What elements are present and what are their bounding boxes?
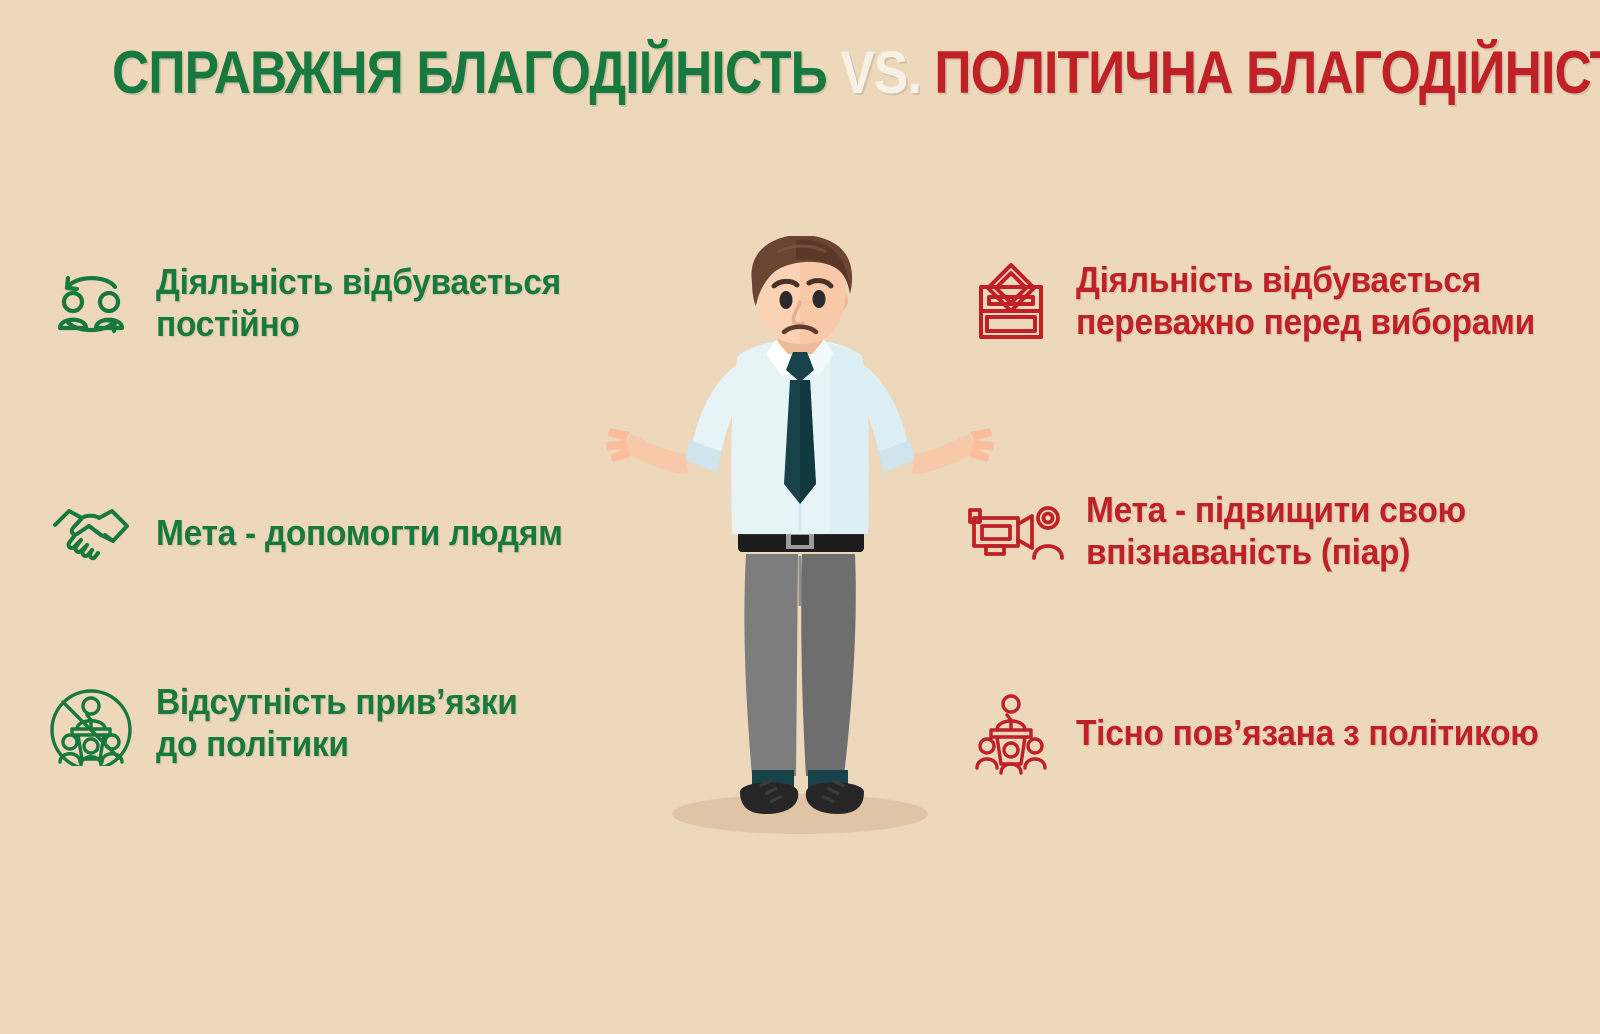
list-item-line2: переважно перед виборами [1076, 301, 1535, 343]
no-politics-icon [48, 680, 134, 766]
shrugging-businessman-illustration [600, 236, 1000, 846]
list-item-line2: постійно [156, 303, 561, 345]
title-vs: VS. [827, 39, 935, 106]
list-item-text: Мета - допомогти людям [156, 512, 563, 554]
list-item: Діяльність відбувається переважно перед … [968, 258, 1569, 344]
people-cycle-icon [48, 260, 134, 346]
list-item: Мета - підвищити свою впізнаваність (піа… [960, 488, 1494, 574]
list-item-line2: впізнаваність (піар) [1086, 531, 1466, 573]
list-item-line1: Діяльність відбувається [156, 261, 561, 303]
list-item-line1: Діяльність відбувається [1076, 259, 1535, 301]
list-item: Мета - допомогти людям [48, 490, 593, 576]
list-item-text: Діяльність відбувається постійно [156, 261, 561, 345]
list-item: Тісно пов’язана з політикою [968, 690, 1573, 776]
list-item-text: Відсутність прив’язки до політики [156, 681, 518, 765]
list-item-line2: до політики [156, 723, 518, 765]
infographic-page: СПРАВЖНЯ БЛАГОДІЙНІСТЬ VS. ПОЛІТИЧНА БЛА… [0, 0, 1600, 1034]
list-item-line1: Тісно пов’язана з політикою [1076, 712, 1539, 754]
title-green-part: СПРАВЖНЯ БЛАГОДІЙНІСТЬ [112, 39, 827, 106]
list-item-line1: Мета - допомогти людям [156, 512, 563, 554]
list-item-text: Діяльність відбувається переважно перед … [1076, 259, 1535, 343]
list-item: Відсутність прив’язки до політики [48, 680, 545, 766]
title-red-part: ПОЛІТИЧНА БЛАГОДІЙНІСТЬ [934, 39, 1600, 106]
list-item-line1: Відсутність прив’язки [156, 681, 518, 723]
list-item-text: Тісно пов’язана з політикою [1076, 712, 1539, 754]
list-item: Діяльність відбувається постійно [48, 260, 591, 346]
page-title: СПРАВЖНЯ БЛАГОДІЙНІСТЬ VS. ПОЛІТИЧНА БЛА… [112, 38, 1488, 107]
list-item-line1: Мета - підвищити свою [1086, 489, 1466, 531]
handshake-icon [48, 490, 134, 576]
list-item-text: Мета - підвищити свою впізнаваність (піа… [1086, 489, 1466, 573]
